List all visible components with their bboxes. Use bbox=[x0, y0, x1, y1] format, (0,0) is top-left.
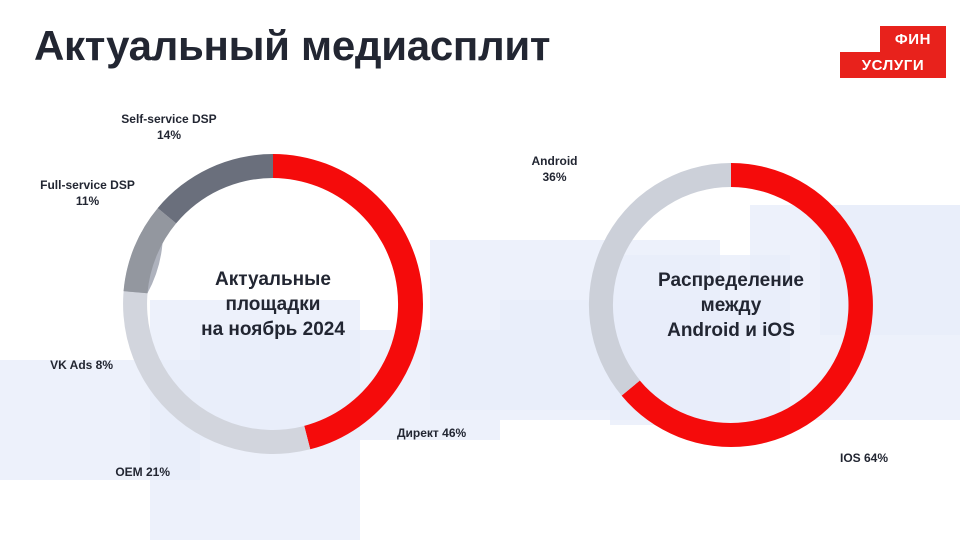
callout-direct: Директ 46% bbox=[397, 425, 537, 441]
callout-self-service-dsp-name: Self-service DSP bbox=[104, 111, 234, 127]
callout-self-service-dsp: Self-service DSP 14% bbox=[104, 111, 234, 143]
donut-slice-self-service-dsp[interactable] bbox=[158, 154, 273, 223]
page-title: Актуальный медиасплит bbox=[34, 22, 550, 70]
callout-direct-text: Директ 46% bbox=[397, 425, 537, 441]
callout-full-service-dsp-value: 11% bbox=[25, 193, 150, 209]
callout-android-name: Android bbox=[497, 153, 612, 169]
callout-full-service-dsp: Full-service DSP 11% bbox=[25, 177, 150, 209]
callout-android: Android 36% bbox=[497, 153, 612, 185]
callout-oem-text: OEM 21% bbox=[40, 464, 170, 480]
callout-ios-text: IOS 64% bbox=[840, 450, 950, 466]
logo-line-uslugi: УСЛУГИ bbox=[840, 52, 946, 78]
callout-ios: IOS 64% bbox=[840, 450, 950, 466]
callout-oem: OEM 21% bbox=[40, 464, 170, 480]
brand-logo[interactable]: ФИН УСЛУГИ bbox=[840, 26, 946, 78]
callout-vk-ads: VK Ads 8% bbox=[0, 357, 113, 373]
callout-vk-ads-text: VK Ads 8% bbox=[0, 357, 113, 373]
os-split-donut[interactable]: Распределение между Android и iOS bbox=[571, 145, 891, 465]
slide-canvas: Актуальный медиасплит ФИН УСЛУГИ Актуаль… bbox=[0, 0, 960, 540]
os-split-donut-svg bbox=[571, 145, 891, 465]
media-split-donut-svg bbox=[104, 135, 442, 473]
logo-line-fin: ФИН bbox=[880, 26, 946, 52]
donut-slice-android[interactable] bbox=[589, 163, 731, 396]
media-split-donut[interactable]: Актуальные площадки на ноябрь 2024 bbox=[104, 135, 442, 473]
callout-self-service-dsp-value: 14% bbox=[104, 127, 234, 143]
callout-android-value: 36% bbox=[497, 169, 612, 185]
donut-slice-direct[interactable] bbox=[273, 154, 423, 449]
callout-full-service-dsp-name: Full-service DSP bbox=[25, 177, 150, 193]
